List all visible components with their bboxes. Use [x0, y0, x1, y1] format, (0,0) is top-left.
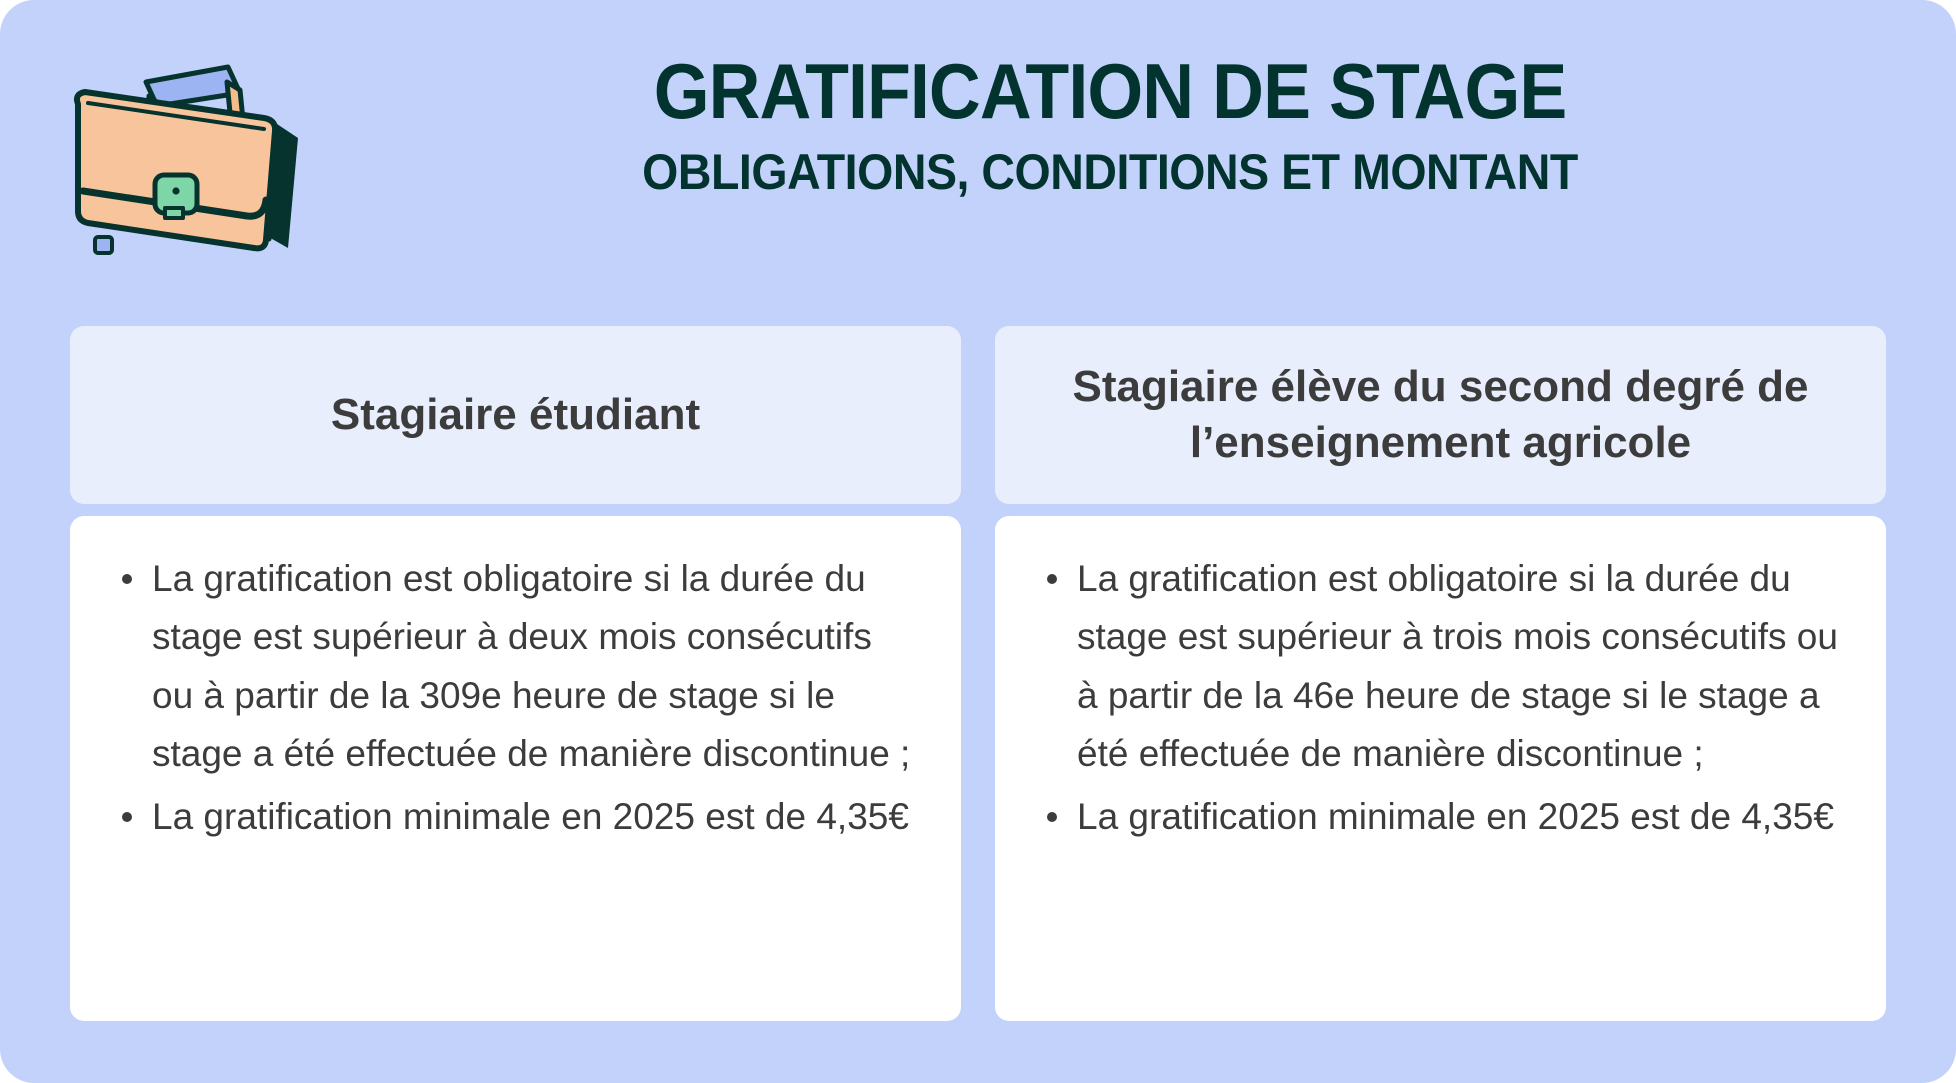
list-item: La gratification est obligatoire si la d…: [152, 550, 915, 784]
column-student: Stagiaire étudiant La gratification est …: [70, 326, 961, 1021]
card-body-agricultural: La gratification est obligatoire si la d…: [995, 516, 1886, 1021]
briefcase-illustration: [52, 34, 312, 264]
column-agricultural: Stagiaire élève du second degré de l’ens…: [995, 326, 1886, 1021]
list-item: La gratification minimale en 2025 est de…: [152, 788, 915, 846]
title-block: GRATIFICATION DE STAGE OBLIGATIONS, COND…: [330, 52, 1890, 198]
page-subtitle: OBLIGATIONS, CONDITIONS ET MONTANT: [385, 146, 1836, 199]
page-title: GRATIFICATION DE STAGE: [392, 52, 1827, 132]
infographic-canvas: GRATIFICATION DE STAGE OBLIGATIONS, COND…: [0, 0, 1956, 1083]
card-header-label: Stagiaire élève du second degré de l’ens…: [1035, 359, 1846, 472]
card-header-label: Stagiaire étudiant: [331, 387, 700, 443]
card-header-student: Stagiaire étudiant: [70, 326, 961, 504]
bullet-list-student: La gratification est obligatoire si la d…: [110, 550, 915, 846]
columns-container: Stagiaire étudiant La gratification est …: [0, 326, 1956, 1021]
list-item: La gratification minimale en 2025 est de…: [1077, 788, 1840, 846]
header-section: GRATIFICATION DE STAGE OBLIGATIONS, COND…: [0, 0, 1956, 300]
bullet-list-agricultural: La gratification est obligatoire si la d…: [1035, 550, 1840, 846]
list-item: La gratification est obligatoire si la d…: [1077, 550, 1840, 784]
card-header-agricultural: Stagiaire élève du second degré de l’ens…: [995, 326, 1886, 504]
card-body-student: La gratification est obligatoire si la d…: [70, 516, 961, 1021]
